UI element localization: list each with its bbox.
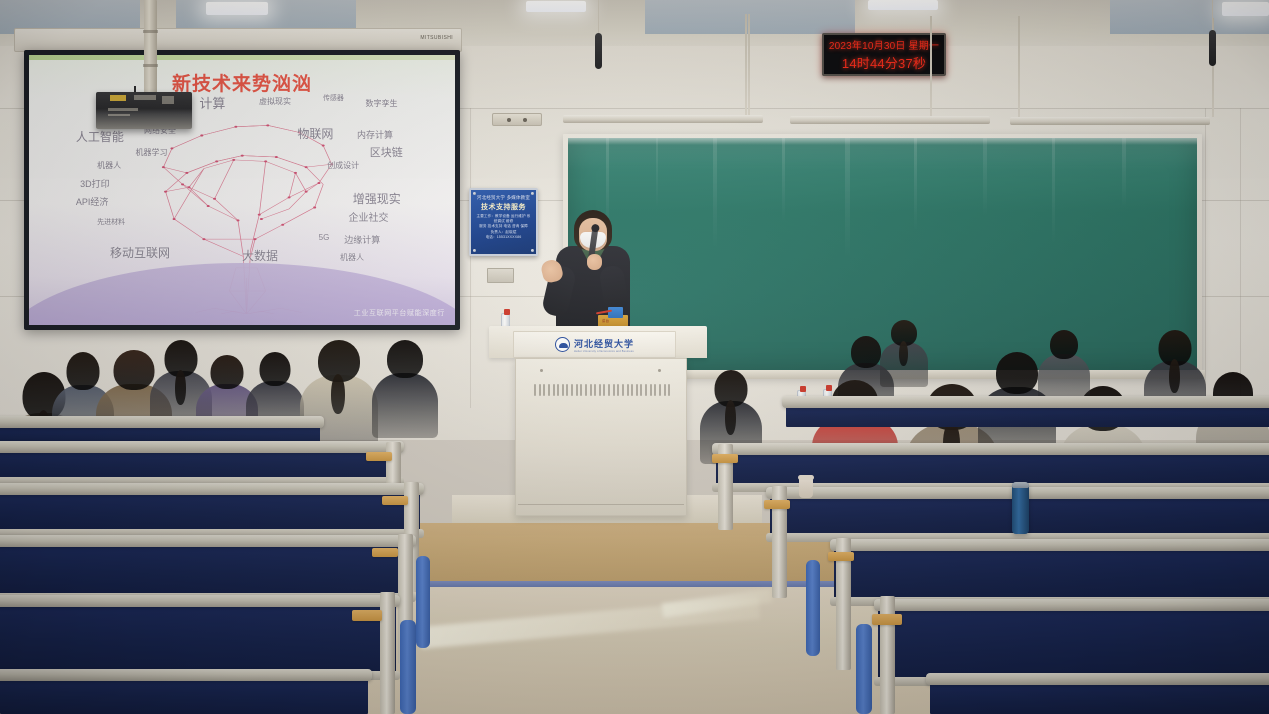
bench-row xyxy=(0,450,400,480)
slide-tag: 计算 xyxy=(199,93,225,112)
audience-ponytail xyxy=(899,341,908,366)
bench-row xyxy=(0,678,368,714)
ceiling-projector xyxy=(96,92,192,129)
light-rail-drop xyxy=(930,16,932,116)
slide-tag: 人工智能 xyxy=(76,128,124,145)
slide-tag: 物联网 xyxy=(297,125,333,142)
bench-row xyxy=(786,405,1269,427)
slide-tag: 数字孪生 xyxy=(366,98,398,109)
slide-watermark: 工业互联网平台赋能深度行 xyxy=(354,308,445,318)
projector-brand-label: MITSUBISHI xyxy=(420,35,453,41)
slide-tag: 移动互联网 xyxy=(110,244,170,261)
sign-line-3: 电话：15531XXXX86 xyxy=(475,235,532,240)
seat-cushion xyxy=(416,556,430,648)
lecture-hall-photo: MITSUBISHI xyxy=(0,0,1269,714)
armrest xyxy=(872,614,902,625)
presenter xyxy=(540,210,644,335)
sign-line-0: 主要工作：教学设备 运行维护 系统调试 维修 xyxy=(475,214,532,224)
led-clock-date: 2023年10月30日 星期一 xyxy=(829,37,939,52)
audience-member xyxy=(880,320,928,386)
slide-tag: 机器学习 xyxy=(136,147,168,158)
audience-head xyxy=(211,355,244,389)
slide-tag: 5G xyxy=(319,233,330,242)
bench-row xyxy=(834,548,1269,600)
audience-head xyxy=(67,352,100,390)
bench-row xyxy=(0,544,412,596)
hanging-microphone xyxy=(595,33,602,69)
sign-header: 河北经贸大学 多媒体教室 xyxy=(475,195,532,201)
slide-tag: 内存计算 xyxy=(357,128,393,141)
seat-cushion xyxy=(400,620,416,714)
armrest xyxy=(366,452,392,461)
audience-torso xyxy=(372,373,438,438)
university-name: 河北经贸大学 xyxy=(574,337,634,350)
armrest xyxy=(352,610,382,621)
wall-service-sign: 河北经贸大学 多媒体教室 技术支持服务 主要工作：教学设备 运行维护 系统调试 … xyxy=(469,188,538,256)
sign-title: 技术支持服务 xyxy=(475,202,532,212)
armrest xyxy=(828,552,854,561)
projection-screen-housing: MITSUBISHI xyxy=(14,28,462,52)
nameplate-text: 讲台 xyxy=(602,318,609,323)
audience-head xyxy=(114,350,155,390)
audience-head xyxy=(1050,330,1078,359)
sign-line-1: 服务 技术支持 电话 咨询 保障 xyxy=(475,224,532,229)
wall-seam xyxy=(1240,108,1241,408)
audience-head xyxy=(387,340,423,378)
microphone-wire xyxy=(1212,0,1213,30)
slide-tag: 先进材料 xyxy=(97,217,125,227)
microphone-wire xyxy=(598,0,599,33)
wall-access-plate xyxy=(487,268,514,283)
slide-title: 新技术来势汹汹 xyxy=(29,69,455,96)
slide-tag: API经济 xyxy=(76,195,109,208)
university-logo-icon xyxy=(555,337,570,352)
audience-ponytail xyxy=(725,400,736,435)
ceiling-light xyxy=(206,2,268,15)
bench-row xyxy=(930,682,1269,714)
slide-tag: 企业社交 xyxy=(349,209,389,224)
audience-ponytail xyxy=(331,374,345,414)
ceiling-light xyxy=(1222,2,1269,16)
podium-logo-panel: 河北经贸大学 Hebei University of Economics and… xyxy=(513,331,676,358)
slide-tag: 大数据 xyxy=(242,247,278,264)
armrest xyxy=(372,548,398,557)
ceiling-panel xyxy=(645,0,855,34)
slide-tag: 传感器 xyxy=(323,93,344,103)
audience-member xyxy=(1038,330,1090,402)
desk-blue-box xyxy=(608,307,623,318)
seat-cushion xyxy=(806,560,820,656)
light-rail xyxy=(563,115,763,123)
slide-tag: 3D打印 xyxy=(80,177,110,190)
led-clock-display: 2023年10月30日 星期一 14时44分37秒 xyxy=(822,33,946,76)
blue-thermos xyxy=(1012,482,1029,534)
audience-ponytail xyxy=(175,370,186,405)
slide-top-band xyxy=(29,55,455,60)
slide-tag: 边缘计算 xyxy=(344,233,380,246)
ceiling-vent xyxy=(492,113,542,126)
university-name-en: Hebei University of Economics and Busine… xyxy=(574,350,634,353)
bench-row xyxy=(0,604,396,674)
slide-tag: 创成设计 xyxy=(327,160,359,171)
light-rail xyxy=(790,116,990,124)
projector-mount-pole xyxy=(144,0,157,100)
armrest xyxy=(382,496,408,505)
audience-member xyxy=(372,340,438,436)
podium-vent-slots xyxy=(534,384,670,396)
audience-ponytail xyxy=(1169,359,1180,393)
audience-head xyxy=(996,352,1038,394)
slide-tag: 增强现实 xyxy=(353,190,401,207)
led-clock-time: 14时44分37秒 xyxy=(842,53,926,72)
light-rail xyxy=(1010,117,1210,125)
seat-cushion xyxy=(856,624,872,714)
light-rail-drop xyxy=(745,14,747,115)
paper-cup xyxy=(799,478,813,498)
slide-tag: 虚拟现实 xyxy=(259,96,291,107)
bench-post xyxy=(380,592,395,714)
light-rail-drop xyxy=(748,14,750,115)
ceiling-light xyxy=(868,0,938,10)
slide-tag: 机器人 xyxy=(97,160,121,171)
presenter-right-hand xyxy=(587,254,602,270)
ceiling-light xyxy=(526,1,586,12)
slide-tag: 机器人 xyxy=(340,252,364,263)
armrest xyxy=(712,454,738,463)
bench-row xyxy=(878,608,1269,680)
projection-screen: 新技术来势汹汹 计算虚拟现实传感器数字孪生人工智能网络安全物联网内存计算机器学习… xyxy=(29,55,455,325)
armrest xyxy=(764,500,790,509)
slide-tag: 区块链 xyxy=(370,144,403,160)
hanging-microphone xyxy=(1209,30,1216,66)
bench-row xyxy=(0,492,420,532)
podium-cabinet xyxy=(515,358,687,516)
audience-head xyxy=(260,352,291,386)
audience-head xyxy=(851,336,881,368)
projection-screen-frame: 新技术来势汹汹 计算虚拟现实传感器数字孪生人工智能网络安全物联网内存计算机器学习… xyxy=(24,50,460,330)
light-rail-drop xyxy=(1018,16,1020,117)
wall-seam xyxy=(470,108,471,408)
